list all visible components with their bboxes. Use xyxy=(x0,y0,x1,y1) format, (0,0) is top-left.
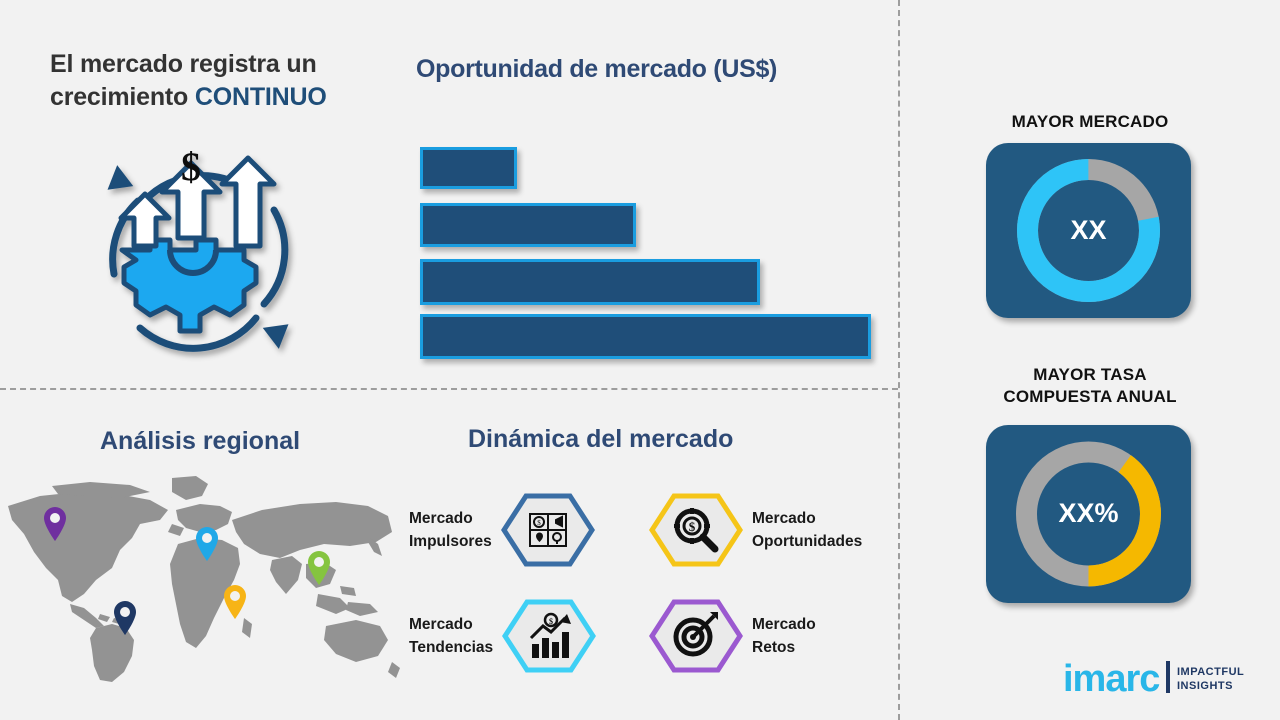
highest-cagr-card: XX% xyxy=(986,425,1191,603)
hexagon-opportunities: $ xyxy=(648,492,744,568)
pin-middle-east-africa xyxy=(222,584,248,620)
trends-label-line1: Mercado xyxy=(409,616,473,633)
highest-cagr-title: MAYOR TASA COMPUESTA ANUAL xyxy=(960,364,1220,408)
largest-market-value: XX xyxy=(986,215,1191,246)
headline-line-2-plain: crecimiento xyxy=(50,83,195,111)
pin-latin-america xyxy=(112,600,138,636)
imarc-logo: imarc IMPACTFUL INSIGHTS xyxy=(1063,655,1248,701)
dynamics-item-drivers[interactable]: Mercado Impulsores $ xyxy=(409,492,596,568)
vertical-divider xyxy=(898,0,900,720)
svg-text:$: $ xyxy=(689,519,696,534)
bar-chart-title: Oportunidad de mercado (US$) xyxy=(416,55,777,84)
market-dynamics-title: Dinámica del mercado xyxy=(468,425,733,454)
headline-line-1: El mercado registra un xyxy=(50,50,317,78)
largest-market-card: XX xyxy=(986,143,1191,318)
svg-text:$: $ xyxy=(537,519,541,527)
hexagon-challenges xyxy=(648,598,744,674)
infographic-canvas: El mercado registra un crecimiento CONTI… xyxy=(0,0,1280,720)
page-title: El mercado registra un crecimiento CONTI… xyxy=(50,48,410,114)
dynamics-label-opportunities: Mercado Oportunidades xyxy=(752,507,862,554)
bar-1 xyxy=(420,147,517,189)
svg-text:$: $ xyxy=(549,617,553,626)
horizontal-divider xyxy=(0,388,898,390)
dynamics-label-challenges: Mercado Retos xyxy=(752,613,816,660)
svg-text:$: $ xyxy=(181,144,201,189)
pin-north-america xyxy=(42,506,68,542)
bar-chart xyxy=(420,147,880,352)
opportunities-label-line2: Oportunidades xyxy=(752,533,862,550)
highest-cagr-title-line1: MAYOR TASA xyxy=(1033,365,1146,384)
drivers-label-line1: Mercado xyxy=(409,510,473,527)
pin-europe xyxy=(194,526,220,562)
hexagon-trends: $ xyxy=(501,598,597,674)
highest-cagr-value: XX% xyxy=(986,498,1191,529)
challenges-label-line2: Retos xyxy=(752,639,795,656)
dynamics-label-trends: Mercado Tendencias xyxy=(409,613,493,660)
hexagon-drivers: $ xyxy=(500,492,596,568)
drivers-label-line2: Impulsores xyxy=(409,533,492,550)
bar-4 xyxy=(420,314,871,359)
regional-analysis-title: Análisis regional xyxy=(100,427,300,456)
world-map xyxy=(0,468,400,683)
svg-text:IMPACTFUL: IMPACTFUL xyxy=(1177,666,1244,678)
bar-3 xyxy=(420,259,760,305)
svg-text:imarc: imarc xyxy=(1063,658,1160,700)
dynamics-item-trends[interactable]: Mercado Tendencias $ xyxy=(409,598,597,674)
dynamics-item-opportunities[interactable]: $ Mercado Oportunidades xyxy=(648,492,862,568)
challenges-label-line1: Mercado xyxy=(752,616,816,633)
growth-gear-arrows-icon: $ xyxy=(78,138,308,368)
opportunities-label-line1: Mercado xyxy=(752,510,816,527)
dynamics-label-drivers: Mercado Impulsores xyxy=(409,507,492,554)
headline-accent: CONTINUO xyxy=(195,83,327,111)
dynamics-item-challenges[interactable]: Mercado Retos xyxy=(648,598,816,674)
largest-market-title: MAYOR MERCADO xyxy=(960,111,1220,133)
bar-2 xyxy=(420,203,636,247)
trends-label-line2: Tendencias xyxy=(409,639,493,656)
highest-cagr-title-line2: COMPUESTA ANUAL xyxy=(1003,387,1176,406)
pin-asia-pacific xyxy=(306,550,332,586)
svg-text:INSIGHTS: INSIGHTS xyxy=(1177,680,1233,692)
